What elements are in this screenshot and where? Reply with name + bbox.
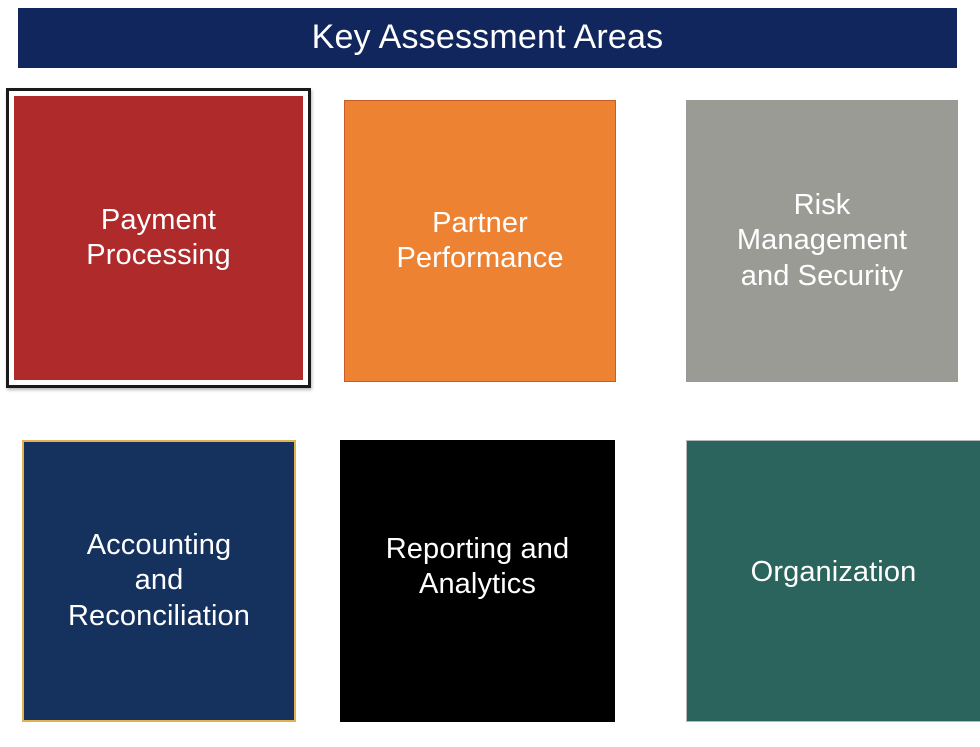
card-partner-performance[interactable]: Partner Performance — [344, 100, 616, 382]
card-partner-performance-label: Partner Performance — [388, 206, 571, 277]
card-payment-processing-fill: Payment Processing — [14, 96, 303, 380]
card-accounting-and-reconciliation-label: Accounting and Reconciliation — [60, 528, 258, 634]
card-risk-management-and-security-label: Risk Management and Security — [729, 188, 915, 294]
card-risk-management-and-security[interactable]: Risk Management and Security — [686, 100, 958, 382]
card-reporting-and-analytics-label: Reporting and Analytics — [378, 532, 578, 603]
slide-title-banner: Key Assessment Areas — [18, 8, 957, 68]
page-title: Key Assessment Areas — [312, 19, 664, 56]
slide-canvas: Key Assessment Areas Payment Processing … — [0, 0, 980, 747]
card-accounting-and-reconciliation[interactable]: Accounting and Reconciliation — [22, 440, 296, 722]
card-payment-processing[interactable]: Payment Processing — [6, 88, 311, 388]
card-reporting-and-analytics[interactable]: Reporting and Analytics — [340, 440, 615, 722]
card-organization-label: Organization — [743, 555, 925, 590]
card-organization[interactable]: Organization — [686, 440, 980, 722]
card-payment-processing-label: Payment Processing — [78, 203, 238, 274]
